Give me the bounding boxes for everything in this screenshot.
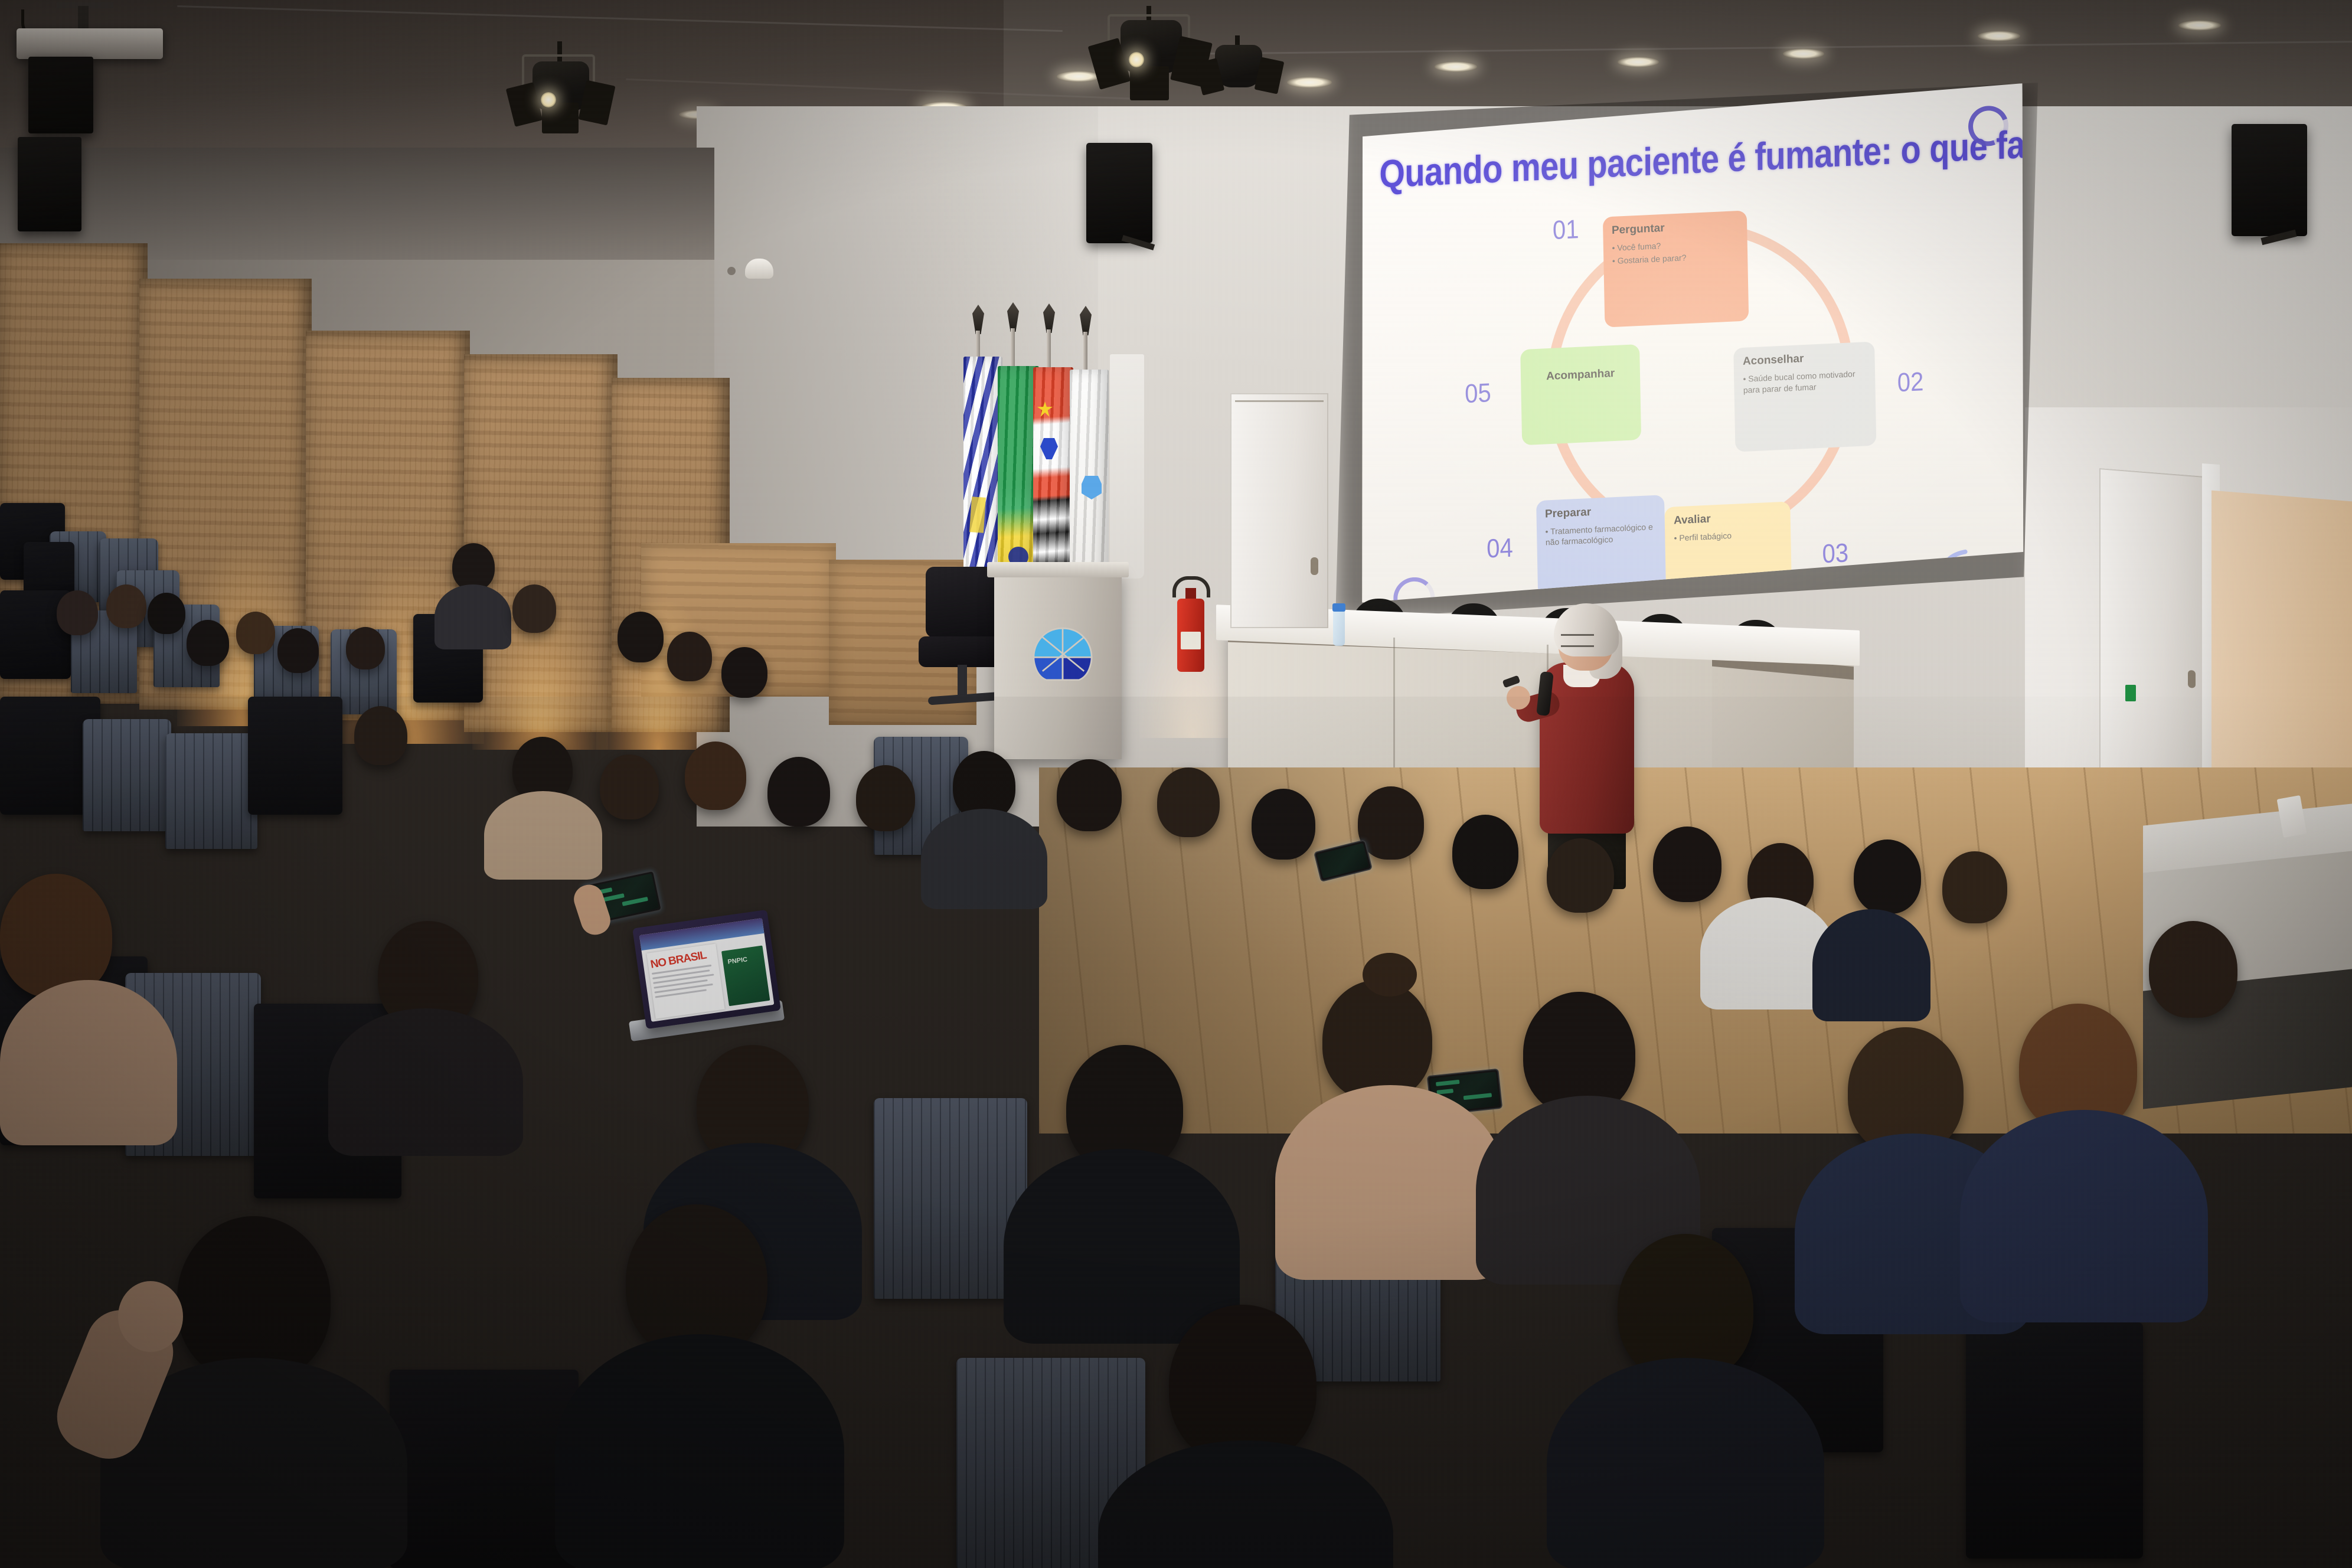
podium-top bbox=[987, 562, 1129, 577]
audience-head bbox=[1942, 851, 2007, 923]
hair-bun bbox=[1363, 953, 1417, 997]
step-number-02: 02 bbox=[1897, 367, 1923, 397]
exit-sign-sticker bbox=[2125, 685, 2136, 701]
water-bottle-cap bbox=[1332, 603, 1345, 612]
book-cover-label: PNPIC bbox=[727, 956, 748, 966]
wall-speaker bbox=[18, 137, 81, 231]
ceiling-downlight bbox=[2178, 20, 2221, 31]
audience-head bbox=[685, 741, 746, 810]
ceiling-downlight bbox=[1618, 57, 1659, 67]
audience-head bbox=[57, 590, 98, 635]
step-title: Avaliar bbox=[1674, 509, 1782, 527]
wall-speaker bbox=[1086, 143, 1152, 243]
step-title: Aconselhar bbox=[1743, 349, 1866, 368]
audience-head bbox=[856, 765, 915, 831]
audience-head bbox=[1057, 759, 1122, 831]
audience-shoulders bbox=[555, 1334, 844, 1568]
table-panel-seam bbox=[1393, 638, 1395, 785]
audience-head bbox=[354, 706, 407, 765]
slide-step-acompanhar: Acompanhar bbox=[1520, 344, 1641, 445]
audience-head bbox=[346, 627, 385, 669]
step-number-05: 05 bbox=[1465, 378, 1491, 409]
lecture-hall-photo: Quando meu paciente é fumante: o que faç… bbox=[0, 0, 2352, 1568]
ceiling-downlight bbox=[1287, 77, 1332, 88]
seat-row-mid[interactable] bbox=[248, 697, 342, 815]
audience-shoulders bbox=[1812, 909, 1930, 1021]
seat-row-near[interactable] bbox=[390, 1370, 579, 1568]
audience-head bbox=[0, 874, 112, 998]
door-right-open[interactable] bbox=[2099, 468, 2204, 789]
doorway-opening bbox=[2211, 491, 2352, 797]
stage-spotlight bbox=[1198, 35, 1287, 112]
audience-shoulders bbox=[435, 584, 511, 649]
door-handle[interactable] bbox=[2188, 670, 2196, 688]
ceiling-projector bbox=[17, 28, 163, 59]
door-left-of-screen[interactable] bbox=[1230, 393, 1328, 628]
audience-head bbox=[1547, 838, 1614, 913]
audience-head bbox=[1157, 767, 1220, 837]
step-title: Preparar bbox=[1545, 503, 1656, 521]
audience-shoulders bbox=[1547, 1358, 1824, 1568]
laptop-screen: NO BRASIL PNPIC bbox=[639, 918, 775, 1022]
ceiling-downlight bbox=[1978, 31, 2020, 41]
audience-head bbox=[1452, 815, 1518, 889]
ceiling-speaker bbox=[28, 57, 93, 133]
water-bottle bbox=[1333, 608, 1345, 646]
slide-title: Quando meu paciente é fumante: o que faç… bbox=[1379, 123, 1993, 197]
door-top-groove bbox=[1235, 400, 1324, 402]
fire-extinguisher-label bbox=[1181, 632, 1201, 649]
audience-head bbox=[767, 757, 830, 827]
office-chair-column bbox=[958, 665, 967, 698]
presentation-slide: Quando meu paciente é fumante: o que faç… bbox=[1373, 126, 2007, 570]
slide-step-perguntar: Perguntar • Você fuma? • Gostaria de par… bbox=[1602, 210, 1749, 327]
seat-row-near[interactable] bbox=[1966, 1322, 2143, 1559]
audience-shoulders bbox=[1004, 1149, 1240, 1344]
audience-head bbox=[187, 620, 229, 666]
audience-hand bbox=[118, 1281, 183, 1352]
institution-dome-logo-icon bbox=[1030, 626, 1096, 682]
audience-shoulders bbox=[328, 1008, 523, 1156]
ceiling-downlight bbox=[1783, 48, 1824, 59]
flag-emblem bbox=[969, 496, 986, 533]
audience-head bbox=[236, 612, 275, 654]
book-cover-thumbnail: PNPIC bbox=[721, 945, 770, 1006]
audience-head bbox=[1358, 786, 1424, 860]
audience-head bbox=[452, 543, 495, 590]
ceiling-downlight bbox=[1435, 61, 1477, 72]
audience-head-bun bbox=[1322, 980, 1432, 1100]
presenter-hand bbox=[1507, 686, 1530, 710]
audience-head bbox=[600, 754, 659, 819]
audience-shoulders bbox=[1960, 1110, 2208, 1322]
step-bullet: • Saúde bucal como motivador para parar … bbox=[1743, 368, 1867, 396]
audience-head bbox=[1854, 839, 1921, 914]
audience-head bbox=[277, 628, 319, 673]
audience-head bbox=[1252, 789, 1315, 860]
presenter-jacket bbox=[1540, 662, 1634, 834]
step-number-03: 03 bbox=[1822, 538, 1848, 569]
audience-head bbox=[721, 647, 767, 698]
audience-head bbox=[148, 593, 185, 634]
flag-spare-white bbox=[1110, 354, 1144, 579]
wall-sensor bbox=[727, 267, 736, 275]
audience-head bbox=[1653, 827, 1721, 902]
projection-screen: Quando meu paciente é fumante: o que faç… bbox=[1348, 83, 2032, 603]
audience-shoulders bbox=[0, 980, 177, 1145]
step-bullet: • Perfil tabágico bbox=[1674, 528, 1782, 544]
step-title: Acompanhar bbox=[1530, 367, 1631, 384]
step-bullet: • Tratamento farmacológico e não farmaco… bbox=[1545, 521, 1656, 548]
ceiling-dome-detector bbox=[745, 259, 773, 279]
door-handle[interactable] bbox=[1311, 557, 1318, 575]
step-title: Perguntar bbox=[1612, 218, 1739, 237]
flag-blue-white-stripes bbox=[963, 357, 1002, 590]
seat-row-mid[interactable] bbox=[165, 733, 257, 849]
audience-shoulders bbox=[921, 809, 1047, 909]
wall-speaker bbox=[2232, 124, 2307, 236]
audience-bare-shoulders bbox=[1275, 1085, 1505, 1280]
step-number-04: 04 bbox=[1487, 534, 1513, 564]
seat-row-mid[interactable] bbox=[83, 719, 171, 831]
audience-head bbox=[618, 612, 664, 662]
audience-head bbox=[106, 584, 146, 628]
presenter-glasses bbox=[1561, 634, 1594, 647]
slide-step-aconselhar: Aconselhar • Saúde bucal como motivador … bbox=[1733, 342, 1876, 452]
laptop[interactable]: NO BRASIL PNPIC bbox=[632, 910, 781, 1029]
step-number-01: 01 bbox=[1552, 214, 1579, 245]
audience-head bbox=[2149, 921, 2237, 1018]
audience-head bbox=[177, 1216, 331, 1381]
stage-spotlight bbox=[508, 41, 626, 136]
audience-shoulders bbox=[484, 791, 602, 880]
audience-head bbox=[512, 584, 556, 633]
audience-head bbox=[667, 632, 712, 681]
